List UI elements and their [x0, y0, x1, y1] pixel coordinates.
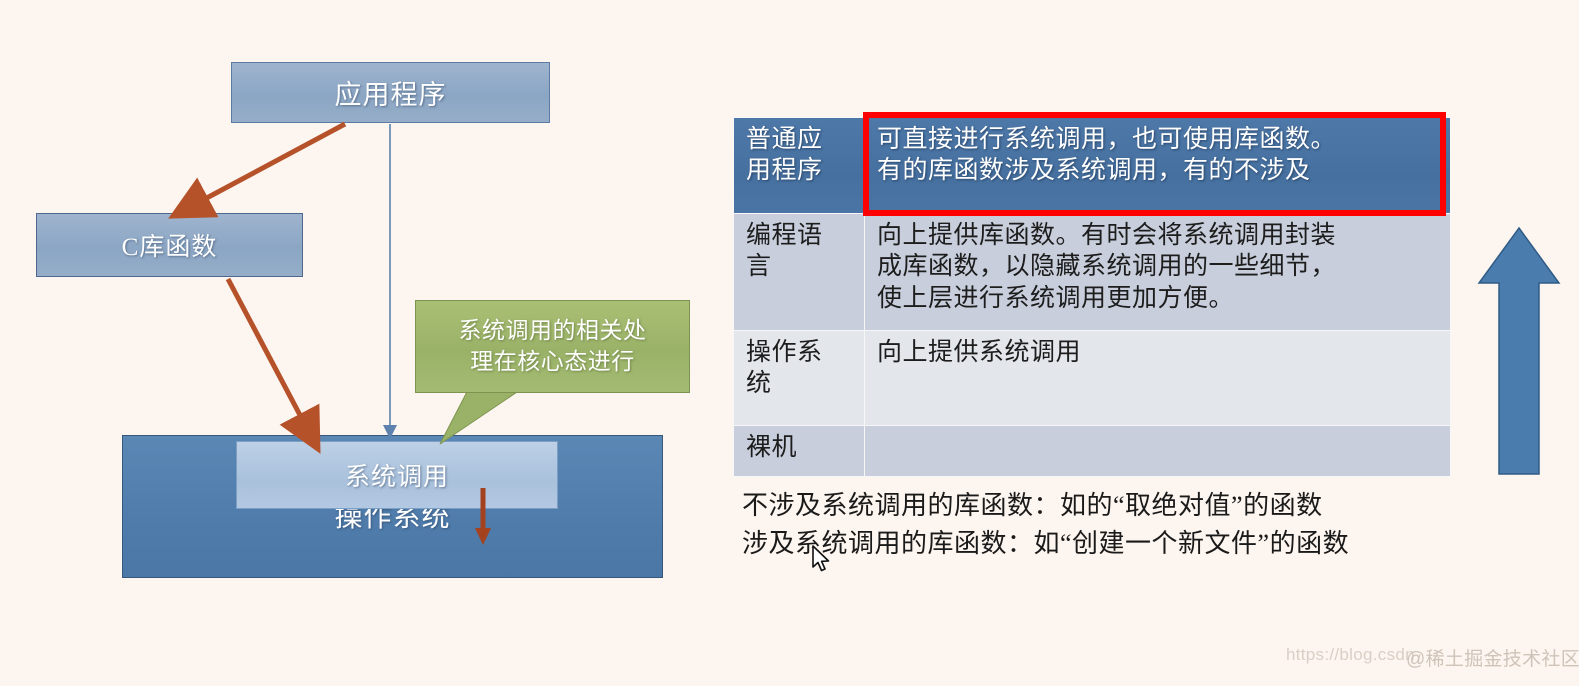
- cell-line: 统: [746, 368, 854, 399]
- callout-line-1: 系统调用的相关处: [459, 316, 647, 346]
- cell-line: 成库函数，以隐藏系统调用的一些细节，: [877, 251, 1440, 282]
- table-cell-layer: 操作系 统: [734, 331, 865, 426]
- box-application: 应用程序: [231, 62, 550, 123]
- callout-system-call-note: 系统调用的相关处 理在核心态进行: [415, 300, 690, 393]
- watermark: https://blog.csdn @稀土掘金技术社区: [1286, 645, 1415, 665]
- mouse-cursor: [812, 545, 834, 575]
- watermark-url: https://blog.csdn: [1286, 645, 1415, 664]
- cell-line: 编程语: [746, 220, 854, 251]
- table-cell-description: [865, 426, 1451, 477]
- cell-line: 使上层进行系统调用更加方便。: [877, 283, 1440, 314]
- table-row: 操作系 统 向上提供系统调用: [734, 331, 1451, 426]
- bottom-note: 不涉及系统调用的库函数：如的“取绝对值”的函数 涉及系统调用的库函数：如“创建一…: [742, 487, 1532, 562]
- table-cell-layer: 普通应 用程序: [734, 118, 865, 214]
- box-system-call: 系统调用: [236, 441, 558, 509]
- watermark-handle: @稀土掘金技术社区: [1406, 644, 1579, 671]
- cell-line: 用程序: [746, 155, 854, 186]
- table-row: 裸机: [734, 426, 1451, 477]
- cell-line: 操作系: [746, 337, 854, 368]
- table-cell-layer: 裸机: [734, 426, 865, 477]
- cell-line: 向上提供系统调用: [877, 337, 1440, 368]
- table-cell-description: 向上提供库函数。有时会将系统调用封装 成库函数，以隐藏系统调用的一些细节， 使上…: [865, 214, 1451, 331]
- highlight-rectangle: [863, 112, 1446, 216]
- arrow-app-to-clib: [188, 124, 345, 208]
- table-cell-layer: 编程语 言: [734, 214, 865, 331]
- cell-line: 裸机: [746, 432, 854, 463]
- cell-line: 向上提供库函数。有时会将系统调用封装: [877, 220, 1440, 251]
- table-row: 编程语 言 向上提供库函数。有时会将系统调用封装 成库函数，以隐藏系统调用的一些…: [734, 214, 1451, 331]
- arrow-clib-to-syscall: [228, 279, 310, 434]
- bottom-note-line-1: 不涉及系统调用的库函数：如的“取绝对值”的函数: [742, 487, 1532, 525]
- table-cell-description: 向上提供系统调用: [865, 331, 1451, 426]
- box-c-library: C库函数: [36, 213, 303, 277]
- cell-line: 言: [746, 251, 854, 282]
- cell-line: 普通应: [746, 124, 854, 155]
- bottom-note-line-2: 涉及系统调用的库函数：如“创建一个新文件”的函数: [742, 525, 1532, 563]
- screenshot-canvas: 应用程序 C库函数 操作系统 系统调用 系统调用的相关处 理在核心态进行 普通应…: [0, 0, 1579, 686]
- callout-line-2: 理在核心态进行: [470, 347, 635, 377]
